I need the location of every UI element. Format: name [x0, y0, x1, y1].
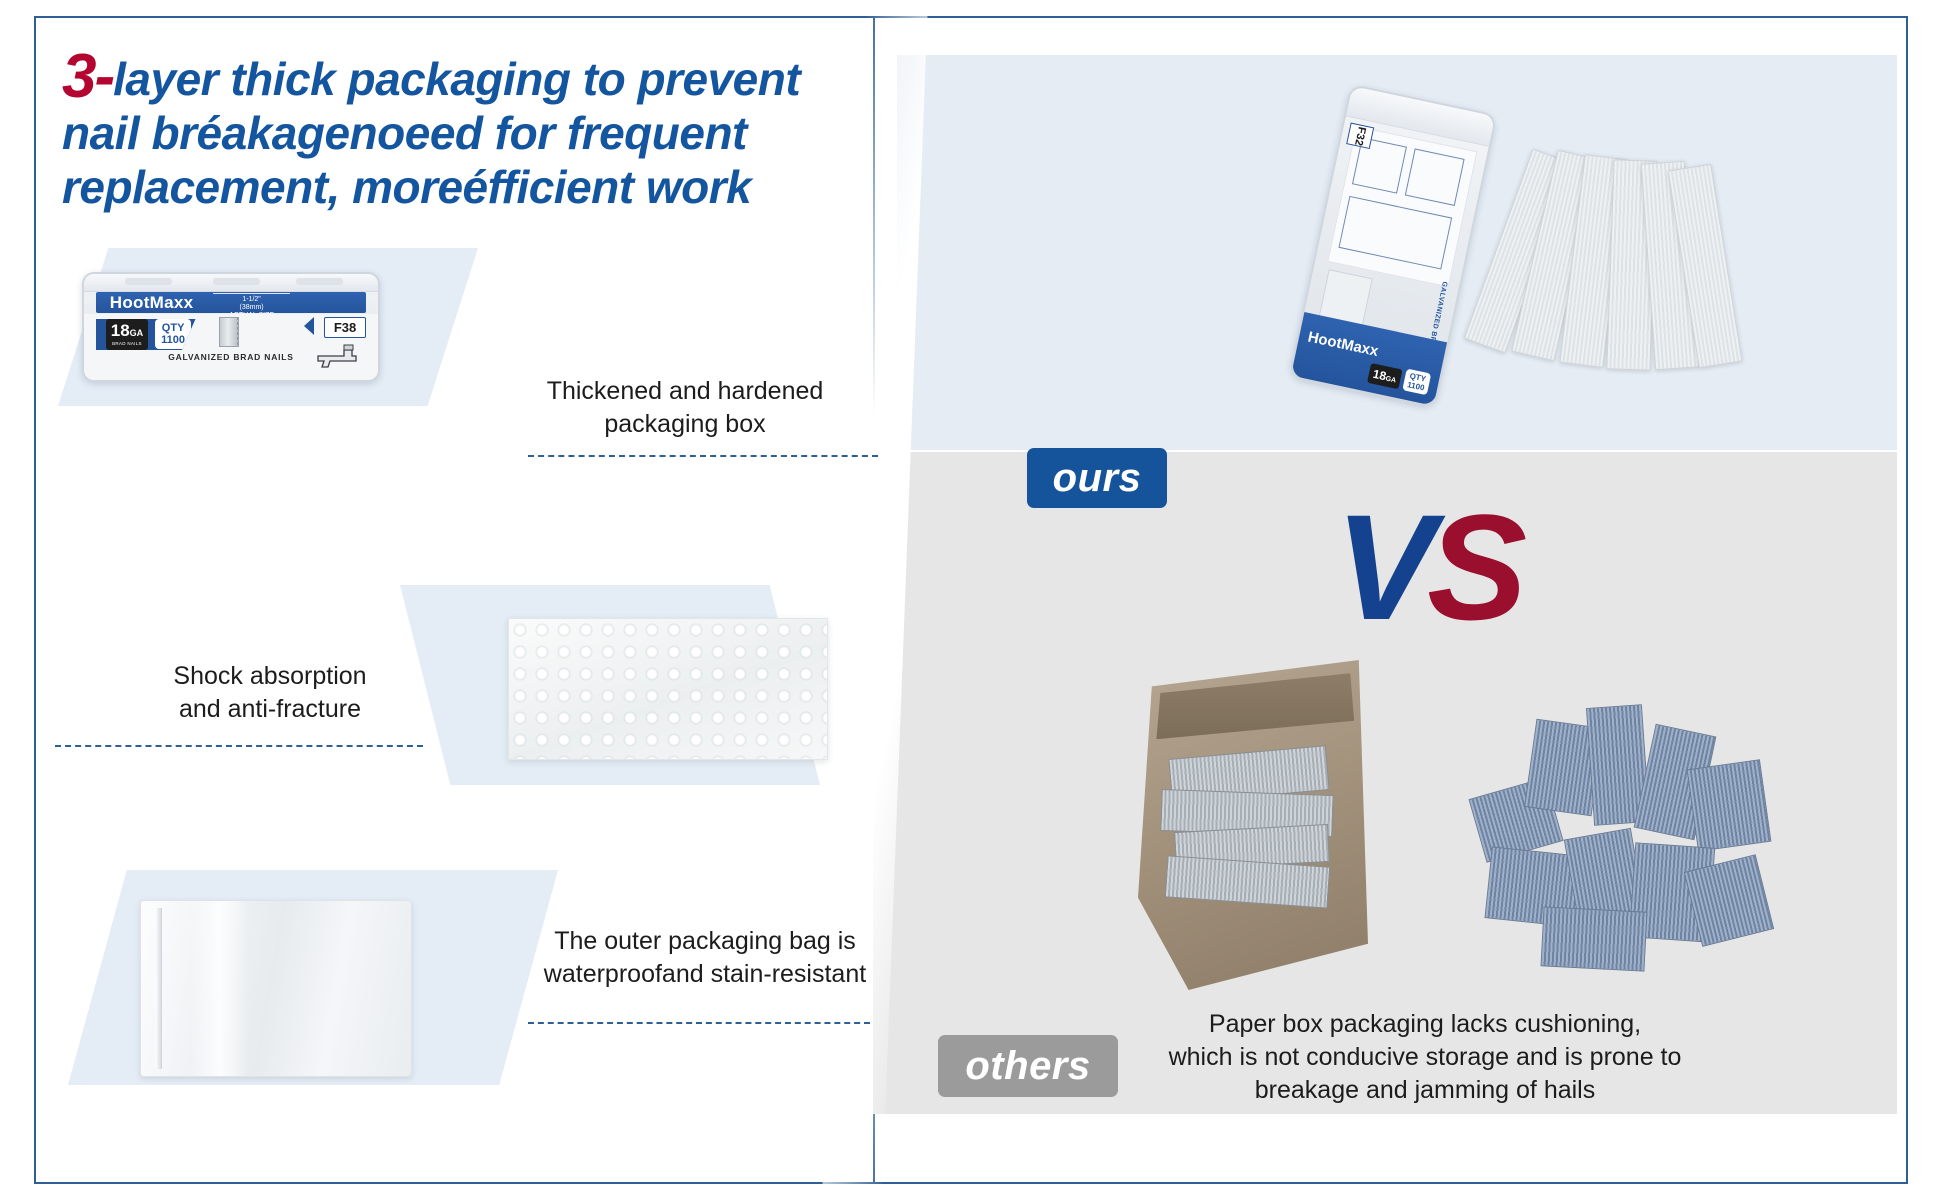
others-desc-line1: Paper box packaging lacks cushioning,	[1209, 1010, 1641, 1038]
bubble-wrap-swatch	[508, 618, 828, 760]
scattered-nails-photo	[1470, 700, 1770, 990]
infographic-canvas: 3-layer thick packaging to prevent nail …	[0, 0, 1940, 1200]
box-window	[1327, 126, 1478, 287]
nail-strip-scattered	[1687, 759, 1772, 852]
callout-3-line2: waterproofand stain-resistant	[544, 960, 866, 988]
callout-3-dashline	[528, 1022, 870, 1024]
callout-1-line2: packaging box	[604, 410, 765, 438]
gauge-unit-right: GA	[1385, 376, 1397, 385]
gauge-subtitle: BRAD NAILS	[111, 342, 143, 347]
callout-2-dashline	[55, 745, 423, 747]
nail-type-label: GALVANIZED BRAD NAILS	[137, 352, 325, 362]
model-code-right: F32	[1346, 122, 1374, 149]
page-title: 3-layer thick packaging to prevent nail …	[62, 50, 862, 214]
product-box-left: HootMaxx 1-1/2" (38mm) ACTUAL SIZE 18GA …	[82, 272, 380, 382]
box-icon-3	[1338, 195, 1452, 269]
title-text: layer thick packaging to prevent nail br…	[62, 53, 800, 213]
ours-badge: ours	[1027, 448, 1167, 508]
model-code: F38	[324, 317, 366, 338]
model-flag-icon	[304, 317, 314, 335]
qty-label: QTY	[162, 322, 185, 334]
callout-outer-bag: The outer packaging bag is waterproofand…	[520, 925, 890, 991]
callout-2-line2: and anti-fracture	[179, 695, 361, 723]
others-desc-line3: breakage and jamming of hails	[1255, 1076, 1595, 1104]
box-lid-slot	[213, 278, 260, 284]
box-lid-slot	[125, 278, 172, 284]
nail-strip-scattered	[1541, 906, 1648, 971]
gauge-badge: 18GA BRAD NAILS	[106, 319, 148, 350]
callout-shock-absorption: Shock absorption and anti-fracture	[105, 660, 435, 726]
vs-letter-v: V	[1335, 483, 1427, 651]
nail-gun-icon	[314, 340, 360, 368]
bag-sheen	[190, 901, 249, 1076]
gauge-unit: GA	[130, 328, 144, 338]
bag-zipper	[155, 908, 162, 1069]
vs-graphic: VS	[1335, 492, 1519, 642]
poly-bag-swatch	[140, 900, 412, 1077]
actual-size-line2: (38mm)	[240, 304, 264, 311]
actual-size-line1: 1-1/2"	[242, 296, 260, 303]
product-box-body: HootMaxx 1-1/2" (38mm) ACTUAL SIZE 18GA …	[82, 272, 380, 382]
qty-value: 1100	[161, 334, 185, 346]
callout-1-line1: Thickened and hardened	[547, 377, 824, 405]
callout-thickened-box: Thickened and hardened packaging box	[520, 375, 850, 441]
vs-letter-s: S	[1427, 483, 1519, 651]
gauge-badge-group: 18GA BRAD NAILS QTY 1100	[96, 319, 196, 351]
others-description: Paper box packaging lacks cushioning, wh…	[1125, 1008, 1725, 1107]
box-lid-slot	[296, 278, 343, 284]
brand-name: HootMaxx	[110, 293, 194, 313]
gauge-number: 18	[111, 321, 130, 340]
callout-1-dashline	[528, 455, 878, 457]
title-number: 3-	[62, 42, 113, 111]
size-dimension-line	[237, 317, 239, 345]
damaged-carton-photo	[1138, 660, 1368, 990]
callout-2-line1: Shock absorption	[173, 662, 366, 690]
box-icon-2	[1405, 148, 1465, 206]
others-desc-line2: which is not conducive storage and is pr…	[1169, 1043, 1682, 1071]
others-badge: others	[938, 1035, 1118, 1097]
callout-3-line1: The outer packaging bag is	[554, 927, 856, 955]
